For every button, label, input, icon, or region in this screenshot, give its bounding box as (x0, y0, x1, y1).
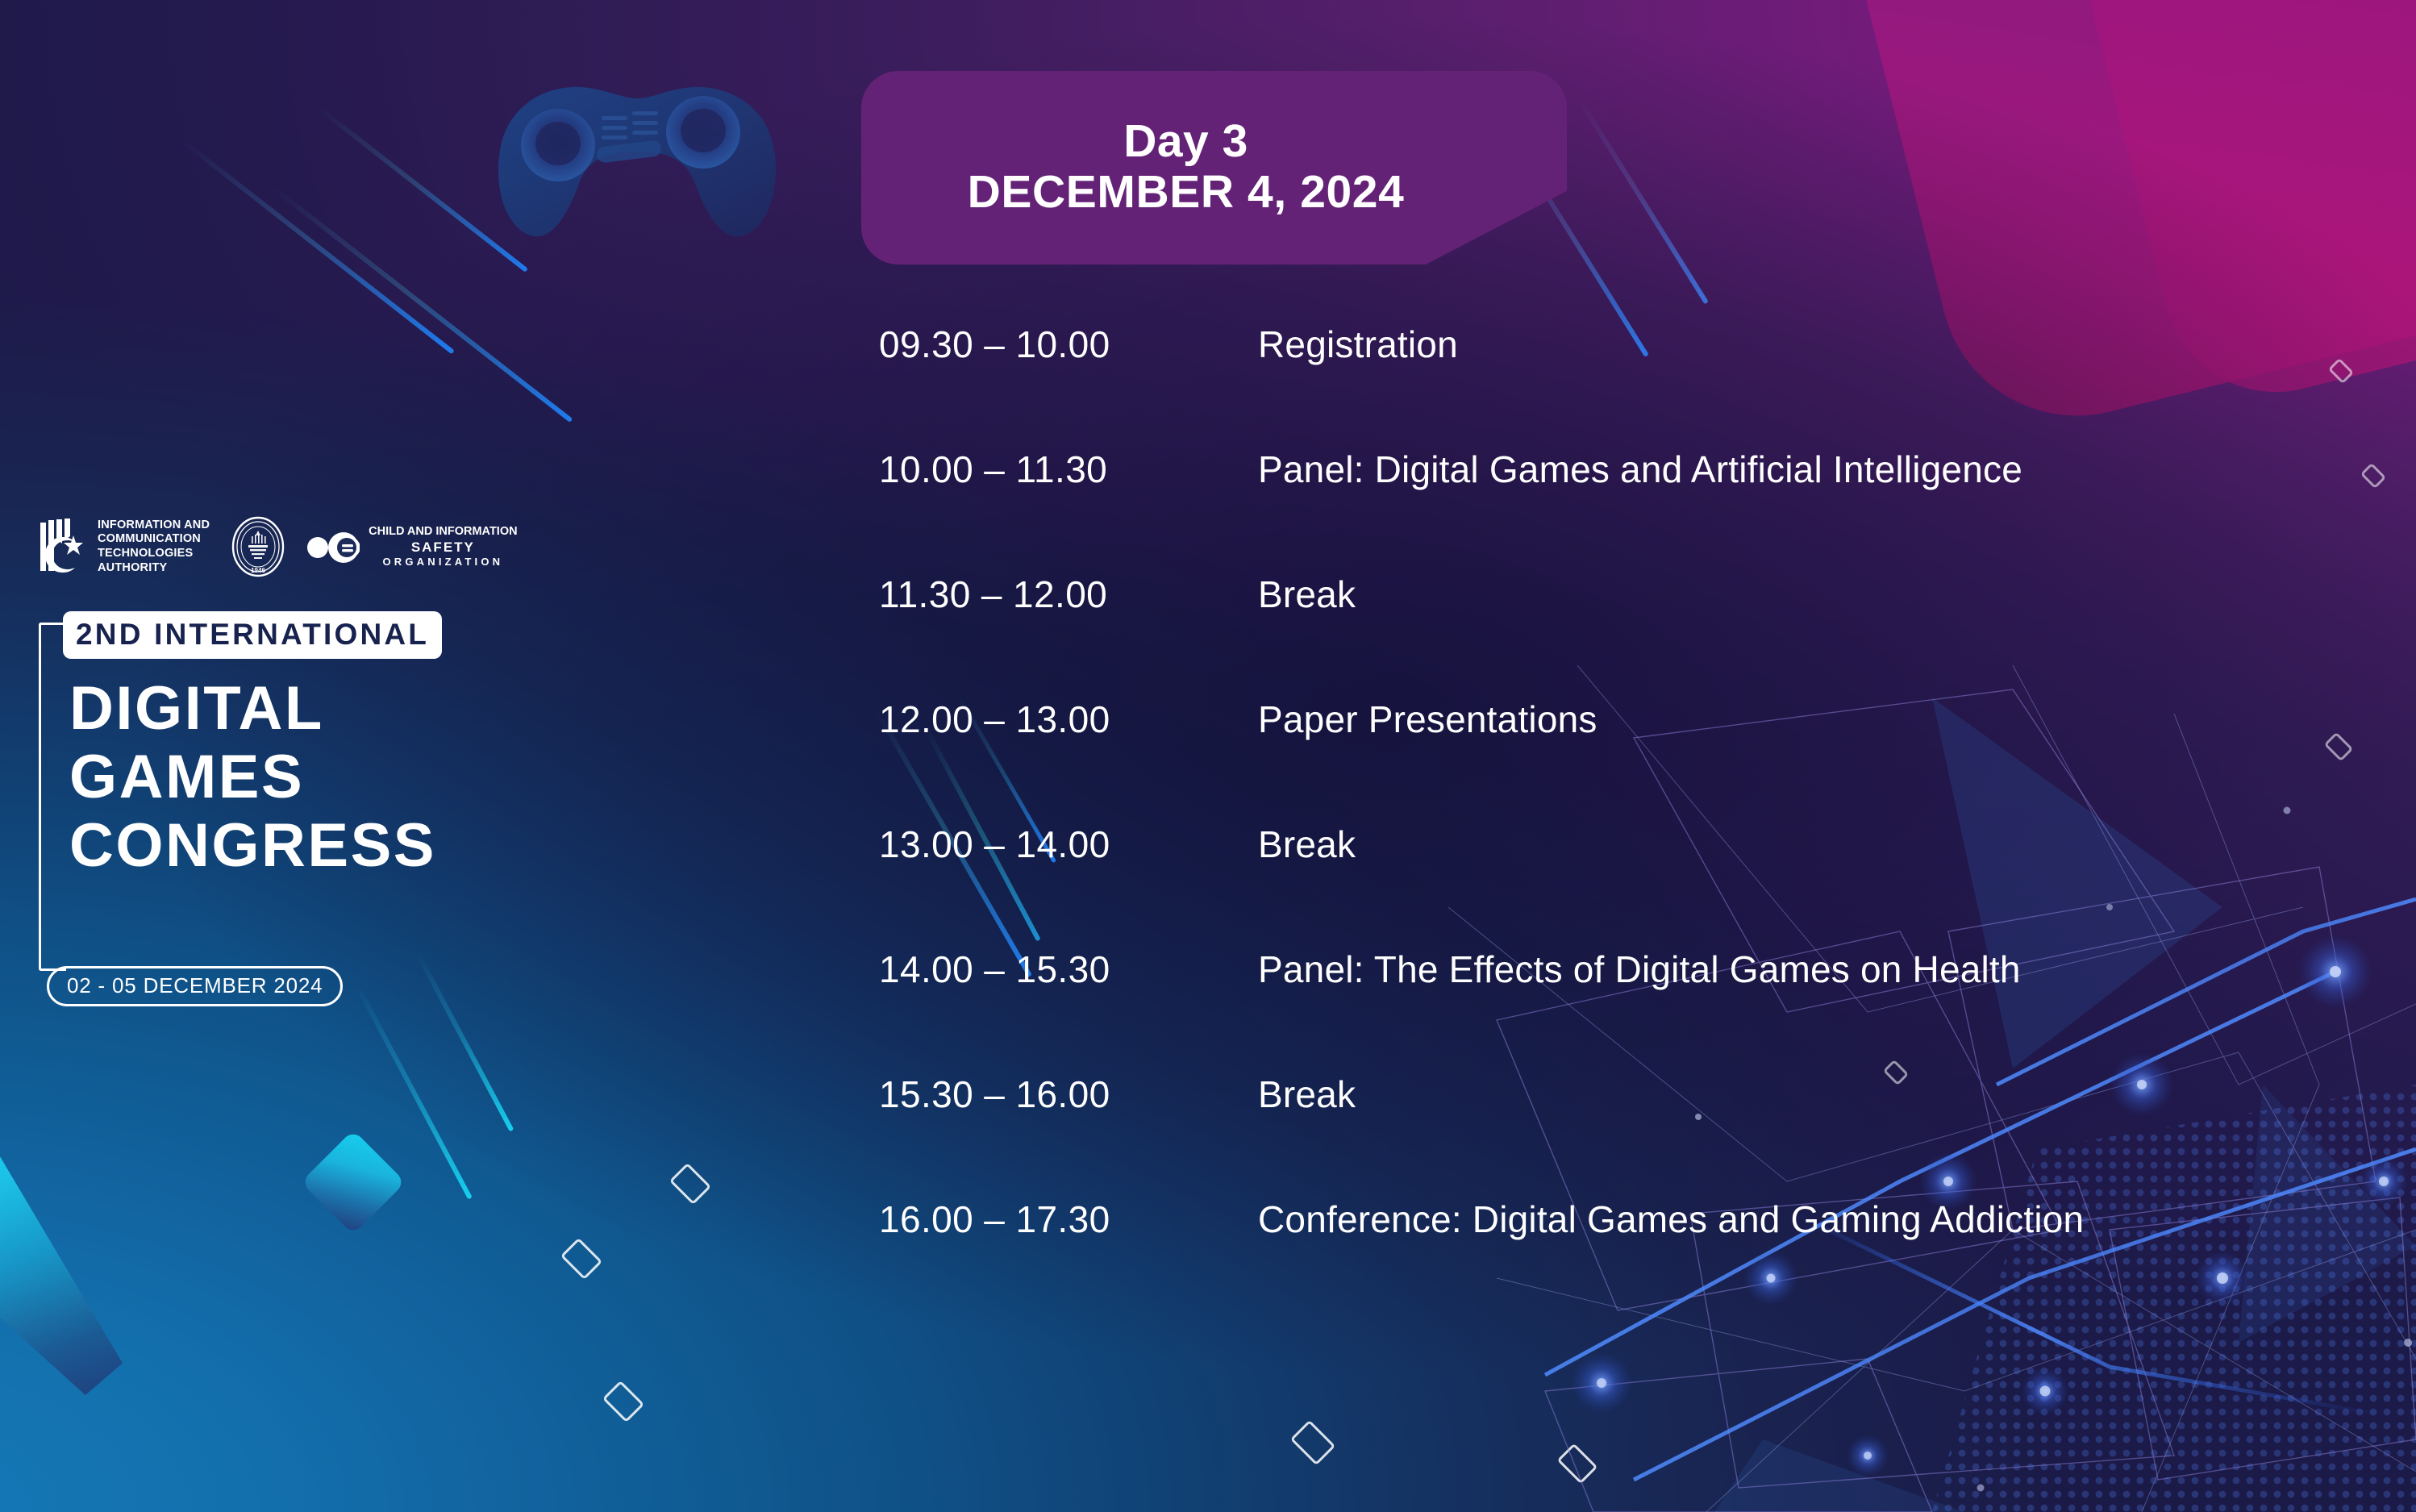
schedule-event: Panel: Digital Games and Artificial Inte… (1258, 448, 2022, 491)
cis-logo-icon (306, 523, 360, 570)
schedule-row: 12.00 – 13.00 Paper Presentations (879, 698, 2331, 823)
icta-logo-icon (39, 518, 89, 576)
icta-line-2: COMMUNICATION (98, 532, 210, 547)
schedule-time: 16.00 – 17.30 (879, 1198, 1258, 1241)
cis-label: CHILD AND INFORMATION SAFETY ORGANIZATIO… (369, 525, 517, 569)
schedule-time: 09.30 – 10.00 (879, 323, 1258, 366)
congress-title-line-2: GAMES (69, 743, 436, 811)
schedule-time: 15.30 – 16.00 (879, 1073, 1258, 1116)
congress-dates-pill: 02 - 05 DECEMBER 2024 (47, 966, 343, 1006)
day-label: Day 3 (1123, 117, 1248, 167)
schedule-row: 13.00 – 14.00 Break (879, 823, 2331, 948)
date-label: DECEMBER 4, 2024 (968, 167, 1405, 219)
congress-title: DIGITAL GAMES CONGRESS (69, 674, 436, 880)
cis-line-3: ORGANIZATION (369, 556, 517, 569)
schedule-event: Paper Presentations (1258, 698, 1597, 741)
icta-label: INFORMATION AND COMMUNICATION TECHNOLOGI… (98, 519, 210, 576)
schedule-row: 11.30 – 12.00 Break (879, 573, 2331, 698)
schedule-time: 11.30 – 12.00 (879, 573, 1258, 616)
schedule-event: Break (1258, 823, 1356, 866)
schedule-row: 15.30 – 16.00 Break (879, 1073, 2331, 1198)
cis-line-2: SAFETY (369, 539, 517, 556)
partner-cis: CHILD AND INFORMATION SAFETY ORGANIZATIO… (306, 523, 517, 570)
ankara-university-logo-icon: 1946 (231, 516, 285, 577)
icta-line-1: INFORMATION AND (98, 519, 210, 533)
congress-title-line-3: CONGRESS (69, 811, 436, 880)
icta-line-3: TECHNOLOGIES (98, 547, 210, 561)
schedule-event: Registration (1258, 323, 1458, 366)
gamepad-icon (484, 48, 790, 242)
schedule-event: Break (1258, 1073, 1356, 1116)
schedule-time: 10.00 – 11.30 (879, 448, 1258, 491)
partner-icta: INFORMATION AND COMMUNICATION TECHNOLOGI… (39, 518, 210, 576)
title-bracket-decoration (39, 623, 66, 971)
schedule-row: 10.00 – 11.30 Panel: Digital Games and A… (879, 448, 2331, 573)
schedule-row: 14.00 – 15.30 Panel: The Effects of Digi… (879, 948, 2331, 1073)
day-banner: Day 3 DECEMBER 4, 2024 (861, 71, 1567, 264)
congress-edition-pill: 2ND INTERNATIONAL (63, 611, 442, 659)
schedule-list: 09.30 – 10.00 Registration 10.00 – 11.30… (879, 323, 2331, 1322)
schedule-time: 12.00 – 13.00 (879, 698, 1258, 741)
schedule-event: Panel: The Effects of Digital Games on H… (1258, 948, 2021, 991)
congress-title-line-1: DIGITAL (69, 674, 436, 743)
schedule-row: 16.00 – 17.30 Conference: Digital Games … (879, 1198, 2331, 1322)
poster-canvas: Day 3 DECEMBER 4, 2024 09.30 – 10.00 Reg… (0, 0, 2416, 1512)
schedule-row: 09.30 – 10.00 Registration (879, 323, 2331, 448)
schedule-time: 13.00 – 14.00 (879, 823, 1258, 866)
ankara-year: 1946 (251, 567, 265, 574)
schedule-time: 14.00 – 15.30 (879, 948, 1258, 991)
cis-line-1: CHILD AND INFORMATION (369, 525, 517, 539)
partner-logos: INFORMATION AND COMMUNICATION TECHNOLOGI… (39, 516, 518, 577)
icta-line-4: AUTHORITY (98, 561, 210, 576)
schedule-event: Break (1258, 573, 1356, 616)
partner-ankara-university: 1946 (231, 516, 285, 577)
schedule-event: Conference: Digital Games and Gaming Add… (1258, 1198, 2084, 1241)
